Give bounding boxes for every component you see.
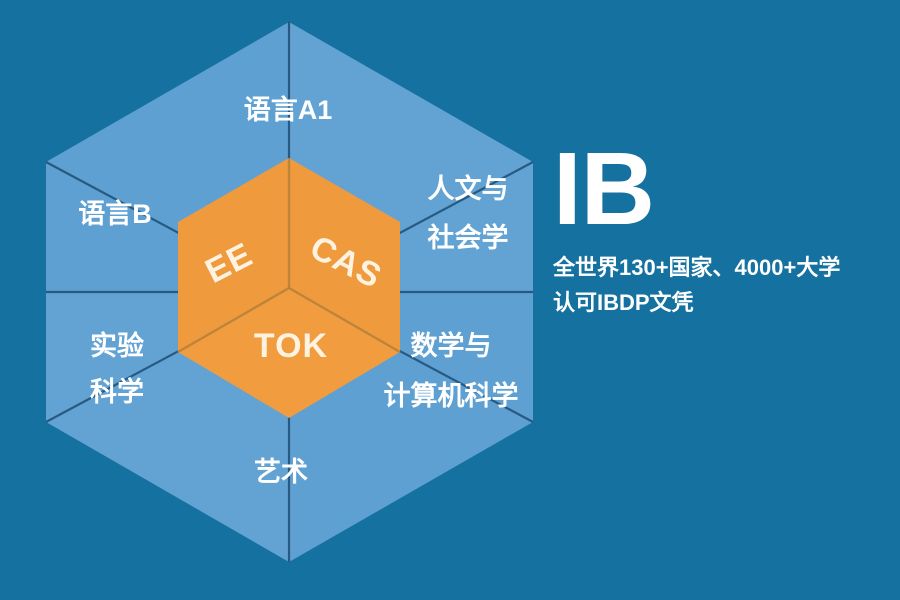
outer-label-language-b: 语言B xyxy=(78,199,152,229)
tagline-line-2: 认可IBDP文凭 xyxy=(553,285,893,321)
outer-label-arts: 艺术 xyxy=(254,457,308,487)
tagline-line-1: 全世界130+国家、4000+大学 xyxy=(553,250,893,286)
outer-label-humanities-line2: 社会学 xyxy=(428,222,509,253)
outer-label-sciences-line2: 科学 xyxy=(90,376,144,407)
ib-infographic: 语言A1 人文与 社会学 数学与 计算机科学 艺术 实验 科学 语言B EE C… xyxy=(0,0,900,600)
ib-logo: IB xyxy=(553,140,893,238)
inner-label-tok: TOK xyxy=(254,327,328,365)
outer-label-mathematics-line2: 计算机科学 xyxy=(384,380,519,411)
outer-label-language-a1: 语言A1 xyxy=(244,95,333,125)
outer-label-humanities: 人文与 xyxy=(428,173,509,204)
outer-label-mathematics: 数学与 xyxy=(411,330,492,361)
branding-panel: IB 全世界130+国家、4000+大学 认可IBDP文凭 xyxy=(553,140,893,321)
outer-label-sciences: 实验 xyxy=(90,330,144,361)
